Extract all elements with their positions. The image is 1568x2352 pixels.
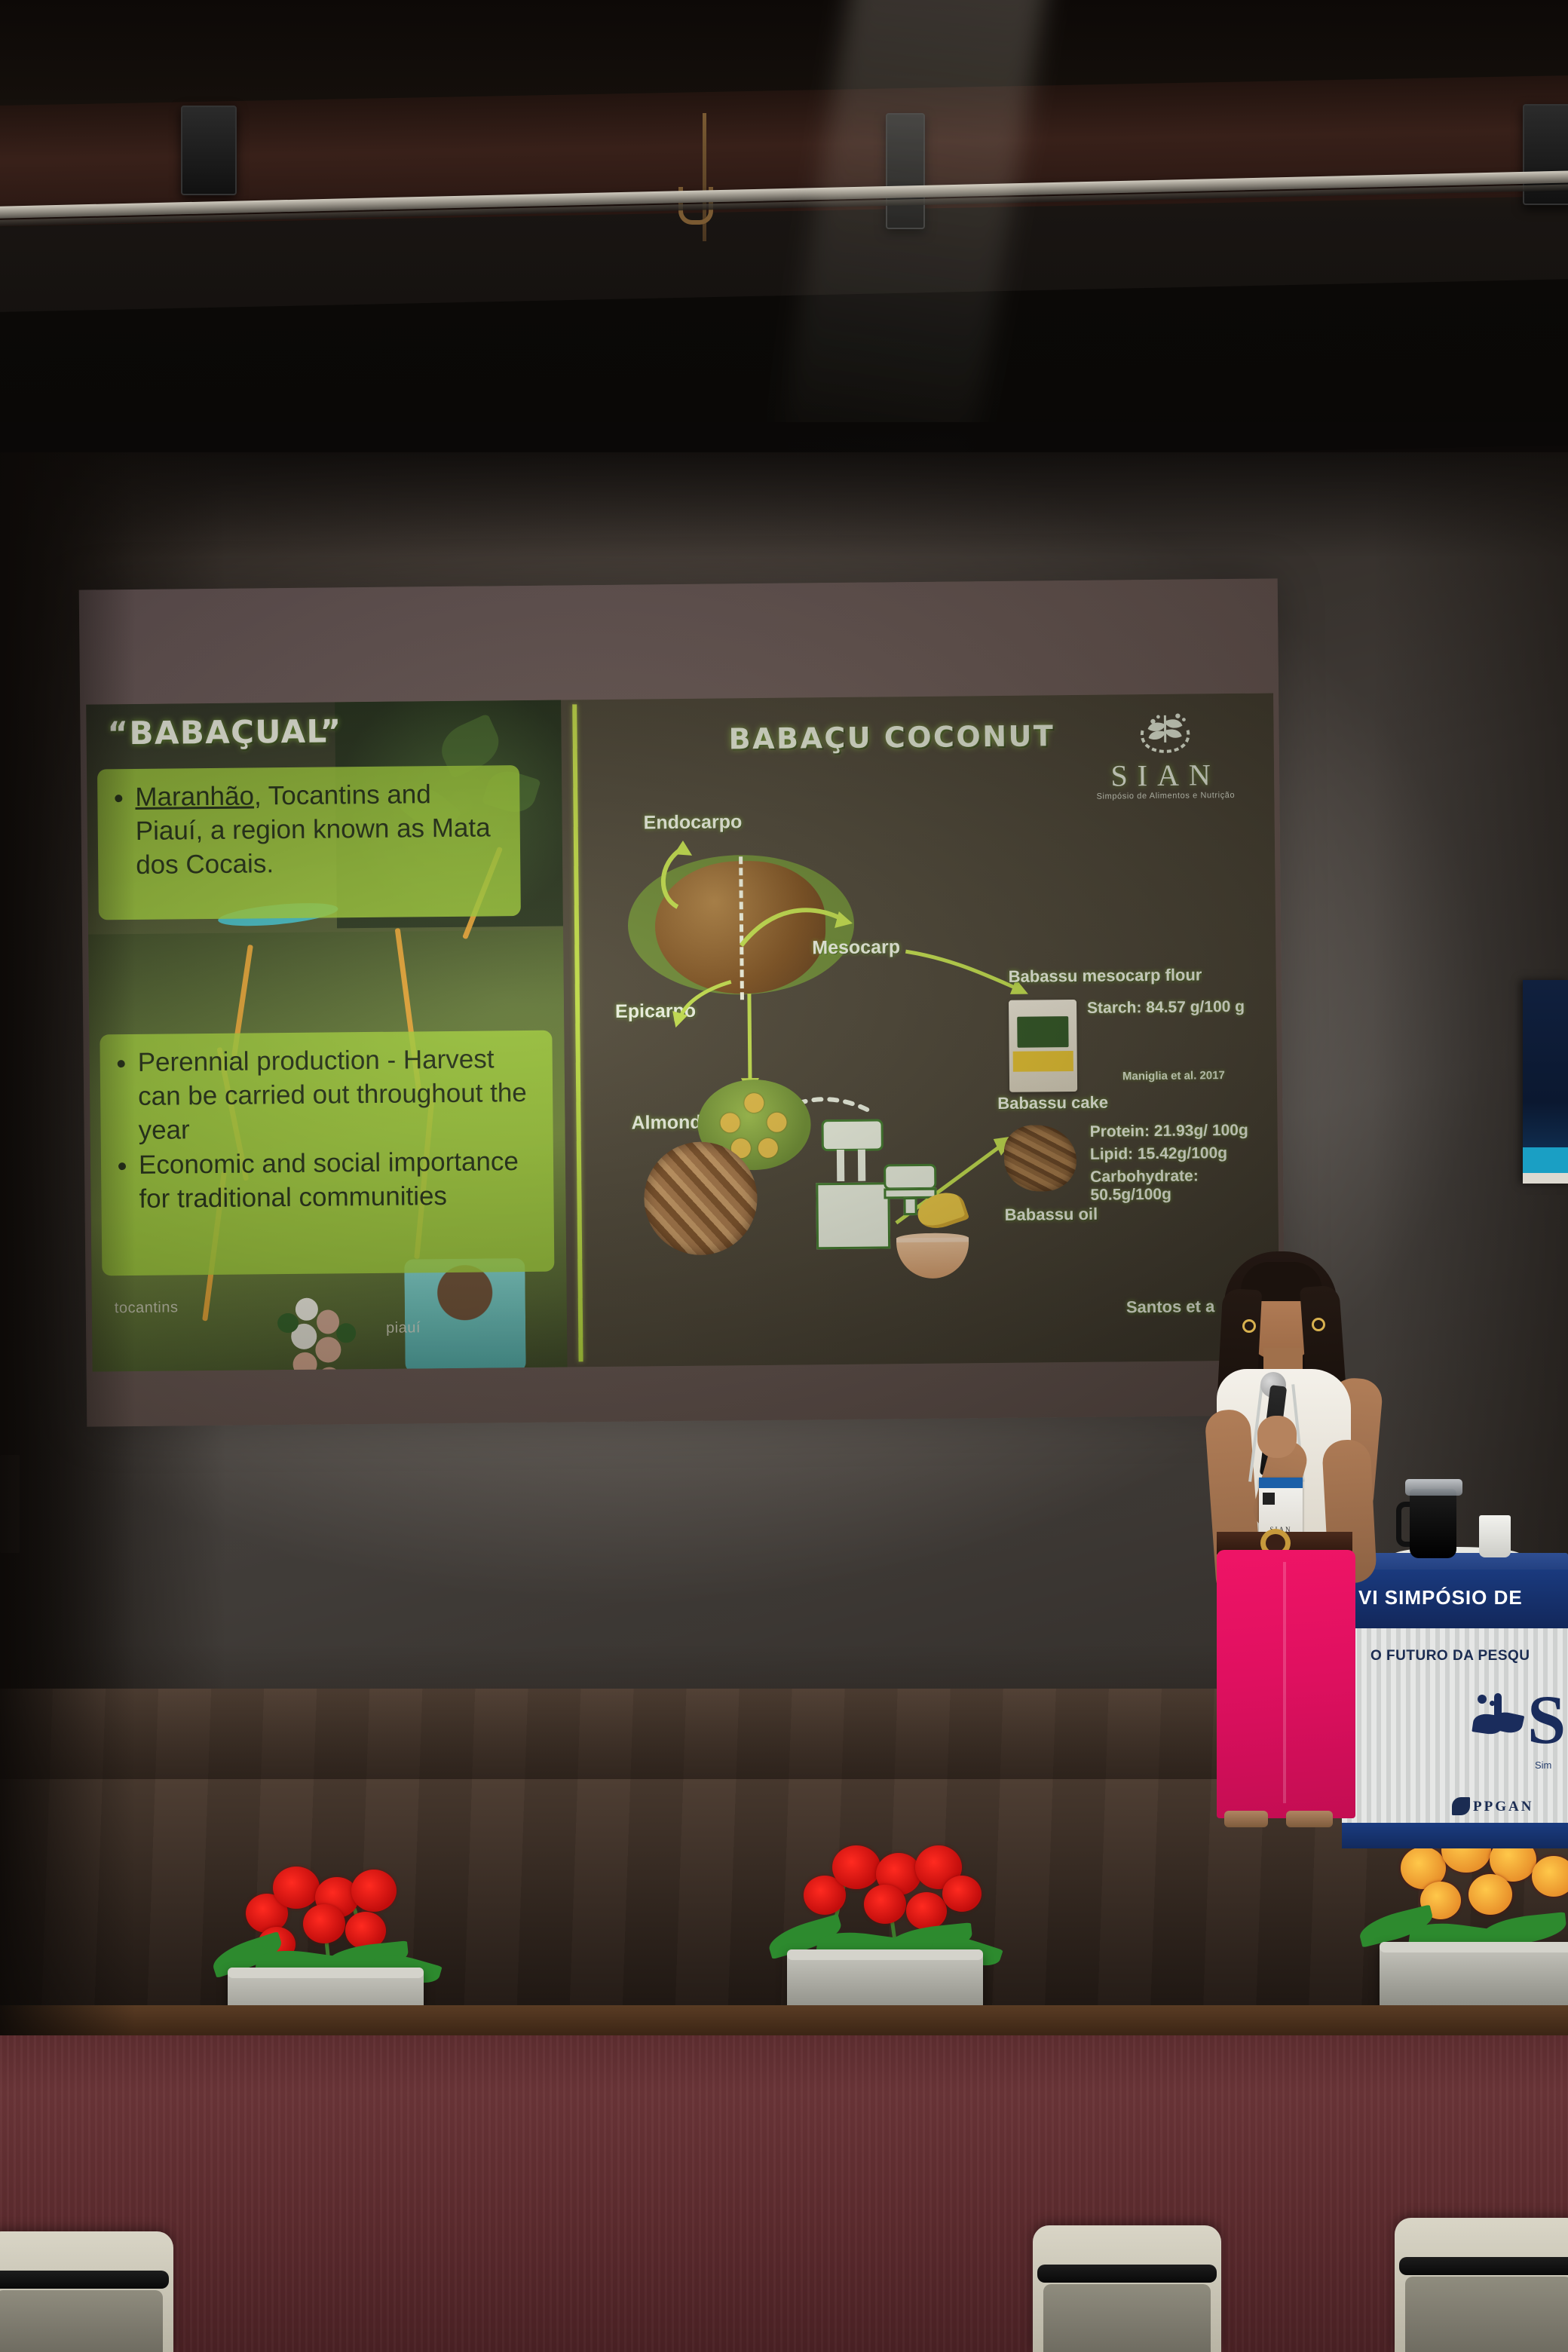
presentation-slide: tocantins piauí “BABAÇUAL” Maranhão, Toc… xyxy=(86,693,1279,1371)
oil-bowl xyxy=(896,1237,969,1279)
earring-left xyxy=(1242,1319,1256,1333)
trouser-seam xyxy=(1283,1562,1286,1803)
bullet-box-bottom: Perennial production - Harvest can be ca… xyxy=(100,1031,554,1276)
poster-white-band xyxy=(1523,1173,1568,1184)
audience-chair xyxy=(1395,2218,1568,2352)
product-label-cake: Babassu cake xyxy=(997,1093,1108,1113)
banner-plant-icon xyxy=(1473,1693,1523,1747)
label-almond: Almond xyxy=(631,1112,701,1135)
community-person-photo xyxy=(404,1258,525,1372)
planter-rim xyxy=(1380,1942,1568,1952)
slide-divider-line xyxy=(572,704,583,1361)
hand-holding-mic xyxy=(1257,1416,1297,1458)
banner-logo-sub: Sim xyxy=(1535,1759,1551,1771)
conference-badge: SIAN xyxy=(1259,1478,1303,1538)
plant-leaf-icon xyxy=(1132,709,1198,756)
presenter: SIAN xyxy=(1176,1251,1402,1809)
sponsor-ppgan: PPGAN xyxy=(1473,1799,1533,1815)
shoe-left xyxy=(1224,1811,1268,1827)
arrow-to-mesocarp xyxy=(736,872,872,957)
bullet-item: Maranhão, Tocantins and Piauí, a region … xyxy=(135,777,504,882)
babassu-cake-photo xyxy=(1004,1125,1077,1192)
product-fact-protein: Protein: 21.93g/ 100g xyxy=(1090,1122,1248,1141)
tumbler-lid xyxy=(1405,1479,1462,1496)
flour-pouch-photo xyxy=(1009,1000,1077,1092)
black-tumbler xyxy=(1410,1489,1456,1558)
map-label-tocantins: tocantins xyxy=(115,1299,179,1317)
banner-logo-letter: S xyxy=(1527,1690,1566,1749)
plastic-cups xyxy=(1479,1515,1511,1557)
planter-rim xyxy=(787,1949,983,1960)
sian-wordmark: SIAN xyxy=(1083,757,1248,794)
slide-title: “BABAÇUAL” xyxy=(107,712,342,752)
ceiling-speaker-mid xyxy=(886,113,925,229)
earring-right xyxy=(1312,1318,1325,1331)
audience-chair xyxy=(1033,2225,1221,2352)
product-label-flour: Babassu mesocarp flour xyxy=(1009,965,1202,986)
screenshot-root: tocantins piauí “BABAÇUAL” Maranhão, Toc… xyxy=(0,0,1568,2352)
babassu-fruit-cluster xyxy=(273,1297,364,1371)
diagram-title: BABAÇU COCONUT xyxy=(728,719,1055,755)
ceiling-speaker-left xyxy=(181,106,237,195)
bullet-emphasis: Maranhão xyxy=(135,781,254,812)
arrow-to-endocarp xyxy=(630,828,737,911)
wall-panel xyxy=(0,1455,20,1553)
product-fact-starch: Starch: 84.57 g/100 g xyxy=(1087,998,1245,1018)
poster-cyan-band xyxy=(1523,1147,1568,1173)
product-fact-lipid: Lipid: 15.42g/100g xyxy=(1090,1144,1227,1164)
bullet-box-top: Maranhão, Tocantins and Piauí, a region … xyxy=(97,765,521,920)
bullet-item: Economic and social importance for tradi… xyxy=(139,1145,537,1217)
sian-tagline: Simpósio de Alimentos e Nutrição xyxy=(1083,791,1248,801)
blue-poster xyxy=(1523,980,1568,1184)
product-fact-carbohydrate: Carbohydrate: 50.5g/100g xyxy=(1090,1166,1278,1204)
bullet-item: Perennial production - Harvest can be ca… xyxy=(138,1043,537,1147)
product-label-oil: Babassu oil xyxy=(1005,1205,1098,1225)
almond-photo xyxy=(644,1141,758,1255)
shoe-right xyxy=(1286,1811,1333,1827)
projection-screen: tocantins piauí “BABAÇUAL” Maranhão, Toc… xyxy=(79,578,1286,1426)
proscenium-texture xyxy=(0,2035,1568,2352)
audience-chair xyxy=(0,2231,173,2352)
badge-qr-code xyxy=(1263,1493,1275,1505)
pink-trousers xyxy=(1217,1550,1355,1818)
table-banner-bottom-band xyxy=(1342,1823,1568,1848)
map-label-piaui: piauí xyxy=(386,1319,421,1337)
badge-header-band xyxy=(1259,1478,1303,1488)
stage-front-edge xyxy=(0,2005,1568,2037)
citation-maniglia: Maniglia et al. 2017 xyxy=(1122,1069,1225,1083)
sian-logo: SIAN Simpósio de Alimentos e Nutrição xyxy=(1082,709,1248,801)
wall-top-fade xyxy=(0,422,1568,558)
planter-rim xyxy=(228,1968,424,1978)
ppgan-icon xyxy=(1452,1797,1470,1815)
